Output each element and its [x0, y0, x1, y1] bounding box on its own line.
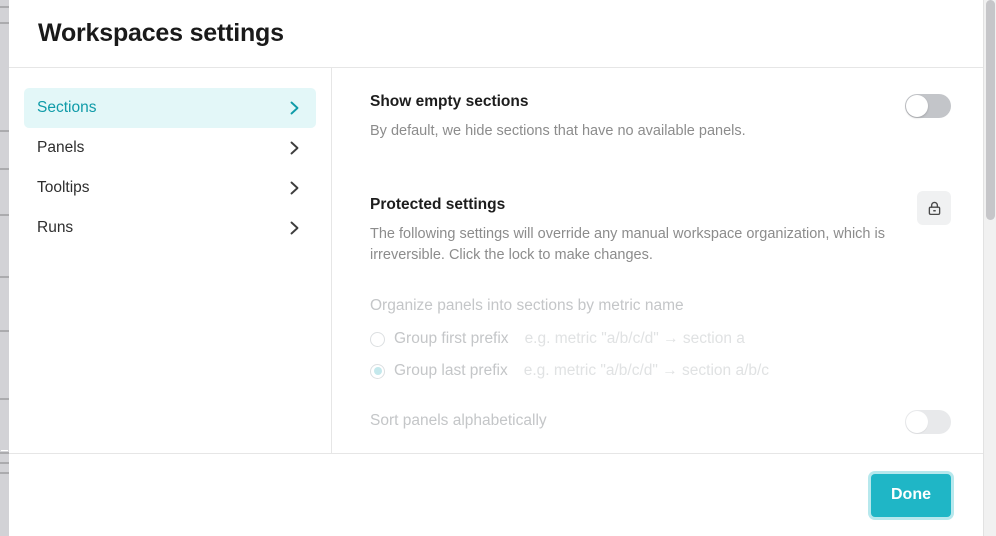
radio-label: Group first prefix	[394, 330, 509, 348]
sort-panels-label: Sort panels alphabetically	[370, 412, 547, 430]
page-title: Workspaces settings	[38, 20, 284, 48]
chevron-right-icon	[286, 100, 302, 116]
organize-panels-heading: Organize panels into sections by metric …	[370, 296, 951, 316]
show-empty-sections-title: Show empty sections	[370, 92, 746, 112]
sidebar-item-sections[interactable]: Sections	[24, 88, 316, 128]
protected-settings-block: Protected settings The following setting…	[370, 195, 951, 434]
settings-sidebar: Sections Panels Tooltips Runs	[9, 68, 332, 453]
page-scrollbar[interactable]	[983, 0, 996, 536]
settings-content: Show empty sections By default, we hide …	[332, 68, 983, 453]
modal-footer: Done	[9, 453, 983, 536]
radio-group-last-prefix[interactable]: Group last prefix e.g. metric "a/b/c/d" …	[370, 362, 951, 380]
sidebar-item-label: Runs	[37, 219, 73, 237]
sidebar-item-runs[interactable]: Runs	[24, 208, 316, 248]
protected-settings-title: Protected settings	[370, 195, 898, 215]
sort-panels-toggle[interactable]	[905, 410, 951, 434]
modal-body: Sections Panels Tooltips Runs	[9, 68, 983, 453]
workspaces-settings-modal: Workspaces settings Sections Panels Tool…	[9, 0, 983, 536]
sidebar-item-label: Tooltips	[37, 179, 90, 197]
chevron-right-icon	[286, 140, 302, 156]
protected-settings-text: Protected settings The following setting…	[370, 195, 898, 266]
radio-hint: e.g. metric "a/b/c/d" → section a	[525, 330, 745, 348]
background-page-sliver	[0, 0, 9, 536]
show-empty-sections-row: Show empty sections By default, we hide …	[370, 92, 951, 142]
done-button[interactable]: Done	[871, 474, 951, 517]
radio-hint: e.g. metric "a/b/c/d" → section a/b/c	[524, 362, 769, 380]
sidebar-item-label: Sections	[37, 99, 96, 117]
radio-group-first-prefix[interactable]: Group first prefix e.g. metric "a/b/c/d"…	[370, 330, 951, 348]
lock-closed-icon-button[interactable]	[917, 191, 951, 225]
toggle-knob	[906, 95, 928, 117]
modal-header: Workspaces settings	[9, 0, 983, 68]
radio-button-unselected[interactable]	[370, 332, 385, 347]
radio-button-selected[interactable]	[370, 364, 385, 379]
page-scrollbar-thumb[interactable]	[986, 0, 995, 220]
chevron-right-icon	[286, 180, 302, 196]
sidebar-item-label: Panels	[37, 139, 84, 157]
sort-panels-row: Sort panels alphabetically	[370, 408, 951, 434]
sidebar-item-tooltips[interactable]: Tooltips	[24, 168, 316, 208]
lock-closed-icon	[925, 199, 944, 218]
show-empty-sections-description: By default, we hide sections that have n…	[370, 121, 746, 142]
chevron-right-icon	[286, 220, 302, 236]
protected-settings-row: Protected settings The following setting…	[370, 195, 951, 266]
sidebar-item-panels[interactable]: Panels	[24, 128, 316, 168]
show-empty-sections-text: Show empty sections By default, we hide …	[370, 92, 746, 142]
radio-label: Group last prefix	[394, 362, 508, 380]
toggle-knob	[906, 411, 928, 433]
organize-panels-group: Organize panels into sections by metric …	[370, 296, 951, 434]
show-empty-sections-toggle[interactable]	[905, 94, 951, 118]
protected-settings-description: The following settings will override any…	[370, 224, 898, 266]
